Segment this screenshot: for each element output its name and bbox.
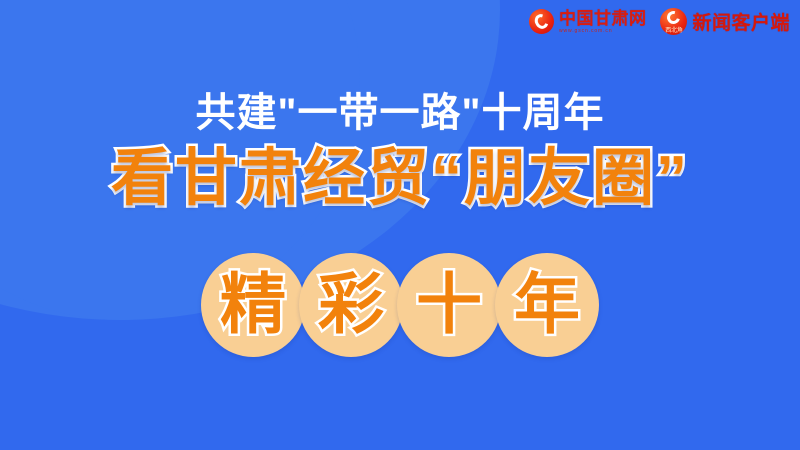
badge-character: 年 xyxy=(514,271,580,337)
badge-character: 精 xyxy=(220,271,286,337)
headline-block: 共建"一带一路"十周年 看甘肃经贸“朋友圈” xyxy=(0,92,800,213)
badge-char-circle: 年 xyxy=(495,253,599,357)
badge-char-circle: 精 xyxy=(201,253,305,357)
gansu-net-wordmark: 中国甘肃网 www.gscn.com.cn xyxy=(559,10,647,34)
badge-character: 彩 xyxy=(318,271,384,337)
headline-line-1: 共建"一带一路"十周年 xyxy=(0,92,800,134)
gansu-net-name: 中国甘肃网 xyxy=(559,10,647,27)
logo-gansu-net[interactable]: 中国甘肃网 www.gscn.com.cn xyxy=(529,9,647,34)
badge-char-circle: 彩 xyxy=(299,253,403,357)
xibeijiao-badge-label: 西北角 xyxy=(660,25,687,34)
headline-line-3-badges: 精 彩 十 年 xyxy=(0,253,800,357)
news-client-name: 新闻客户端 xyxy=(692,8,790,35)
xibeijiao-swirl-icon: 西北角 xyxy=(660,8,687,35)
badge-char-circle: 十 xyxy=(397,253,501,357)
headline-line-2: 看甘肃经贸“朋友圈” xyxy=(0,146,800,213)
logo-news-client[interactable]: 西北角 新闻客户端 xyxy=(660,8,790,35)
badge-character: 十 xyxy=(416,271,482,337)
branding-logo-bar: 中国甘肃网 www.gscn.com.cn 西北角 新闻客户端 xyxy=(529,8,790,35)
gansu-net-swirl-icon xyxy=(529,9,554,34)
gansu-net-url: www.gscn.com.cn xyxy=(559,29,647,34)
poster-canvas: 中国甘肃网 www.gscn.com.cn 西北角 新闻客户端 共建"一带一路"… xyxy=(0,0,800,450)
